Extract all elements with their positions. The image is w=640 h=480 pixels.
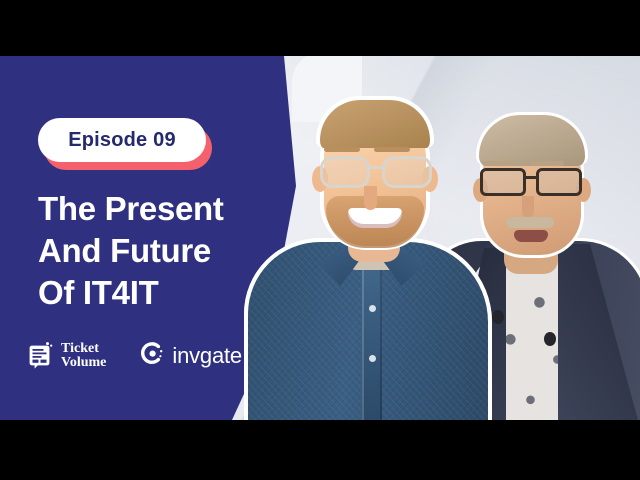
page-title-line-3: Of IT4IT [38, 272, 288, 314]
shirt-button [369, 305, 376, 312]
hair [476, 112, 588, 166]
logo-row: Ticket Volume [26, 340, 242, 371]
glasses-bridge [370, 166, 384, 169]
left-content-column: Episode 09 The Present And Future Of IT4… [0, 56, 300, 420]
mic-icon [544, 332, 556, 346]
video-frame: Episode 09 The Present And Future Of IT4… [0, 0, 640, 480]
ticket-volume-line-2: Volume [61, 355, 106, 370]
invgate-circle-icon [138, 340, 164, 371]
lens-left [320, 156, 370, 188]
eyebrow-right [530, 161, 564, 166]
thumbnail-stage: Episode 09 The Present And Future Of IT4… [0, 56, 640, 420]
episode-badge: Episode 09 [38, 118, 206, 162]
mustache [506, 217, 554, 228]
ticket-volume-logo: Ticket Volume [26, 341, 106, 371]
page-title-line-2: And Future [38, 230, 288, 272]
hair [316, 96, 434, 148]
mic-icon [492, 310, 504, 324]
glasses-icon [314, 156, 440, 190]
ticket-volume-wordmark: Ticket Volume [61, 342, 106, 370]
mouth [514, 230, 548, 242]
invgate-wordmark: invgate [172, 343, 242, 369]
nose [522, 196, 534, 218]
glasses-bridge [526, 176, 538, 179]
lens-right [536, 168, 582, 196]
episode-badge-pill: Episode 09 [38, 118, 206, 162]
letterbox-bottom [0, 420, 640, 480]
lens-right [382, 156, 432, 188]
ticket-document-icon [26, 341, 54, 371]
letterbox-top [0, 0, 640, 56]
eyebrow-left [324, 147, 360, 152]
eyebrow-right [374, 147, 410, 152]
page-title: The Present And Future Of IT4IT [38, 188, 288, 314]
episode-badge-label: Episode 09 [68, 129, 176, 152]
page-title-line-1: The Present [38, 188, 288, 230]
ticket-volume-line-1: Ticket [61, 341, 99, 356]
shirt-button [369, 355, 376, 362]
smile [348, 208, 402, 228]
invgate-logo: invgate [138, 340, 242, 371]
